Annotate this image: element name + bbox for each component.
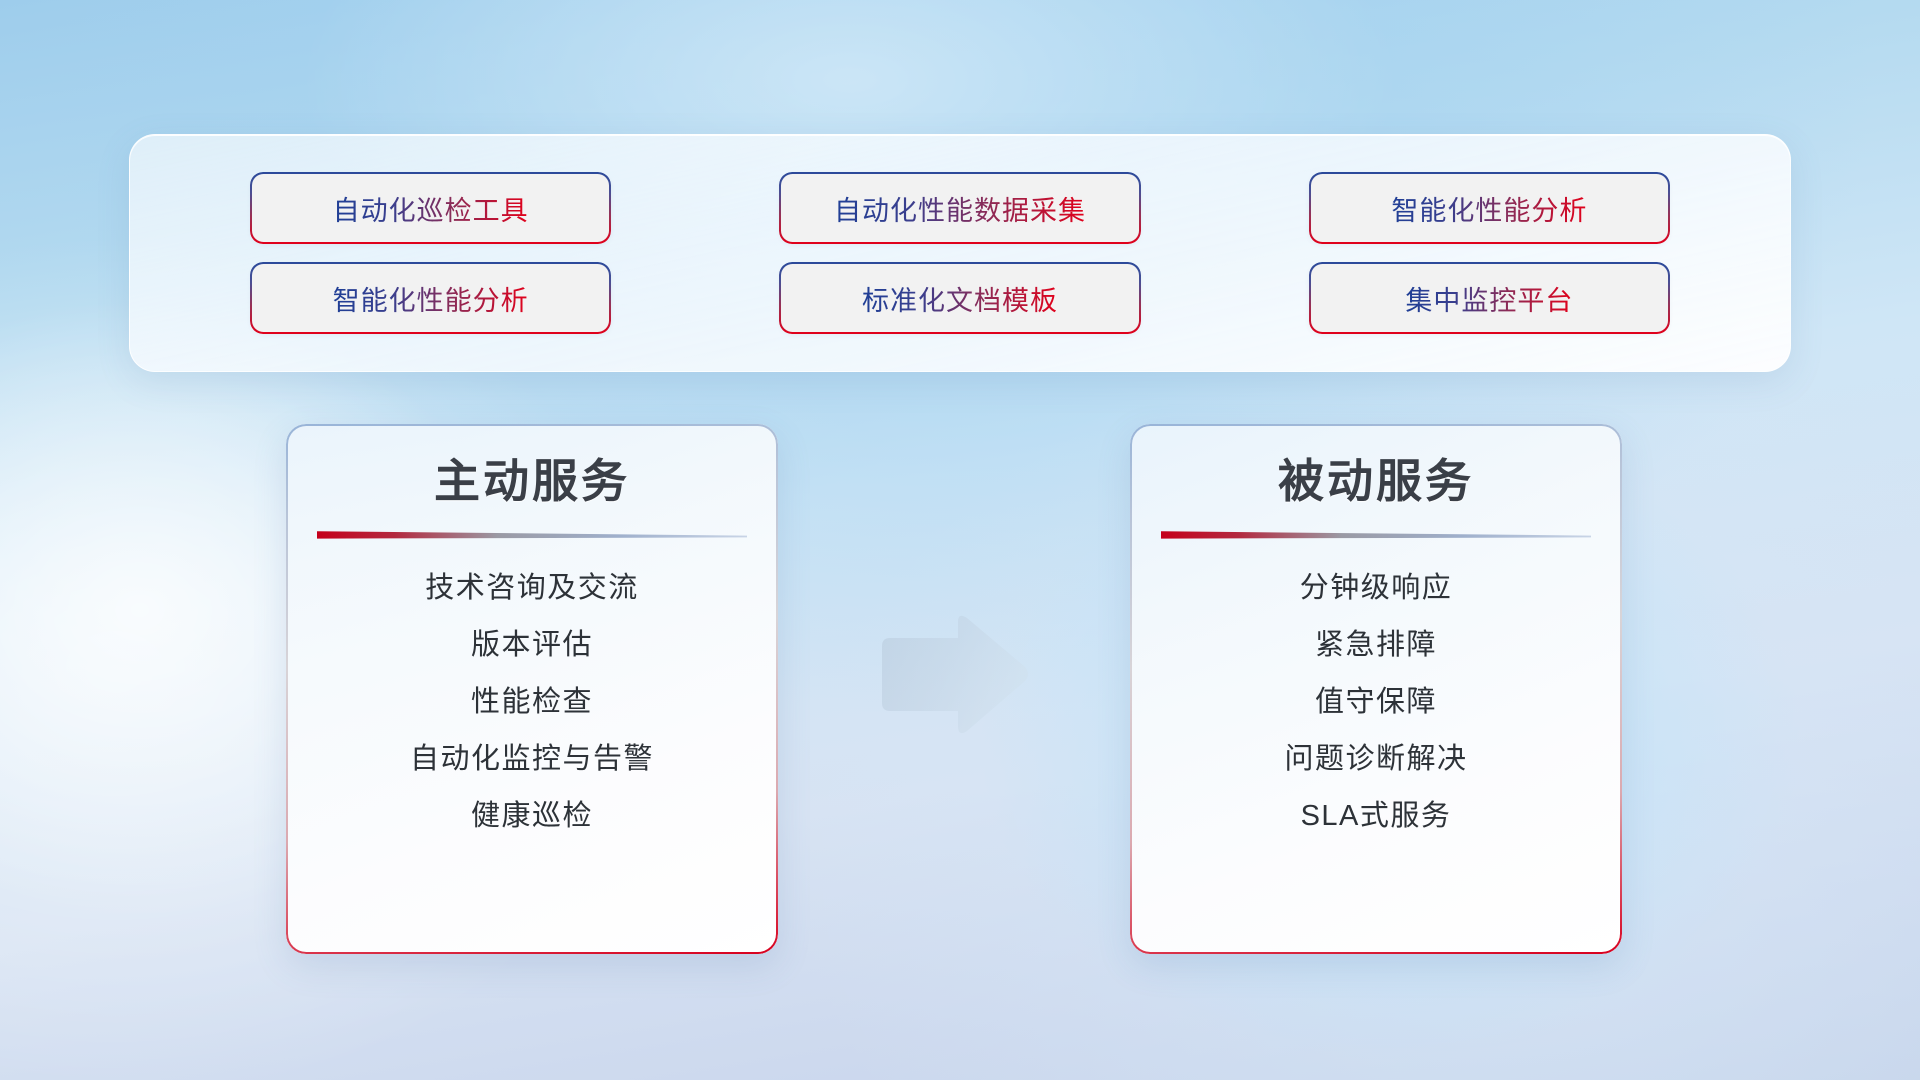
service-card-proactive[interactable]: 主动服务 技术咨询及交流 版本评估 性能检查 自动化监控与告警 健康巡检 xyxy=(286,424,778,954)
service-item: 值守保障 xyxy=(1315,687,1437,719)
capability-pill-label: 自动化巡检工具 xyxy=(333,189,529,228)
service-item: 分钟级响应 xyxy=(1300,573,1453,605)
capability-pill-label: 集中监控平台 xyxy=(1405,279,1573,318)
title-divider xyxy=(1161,530,1591,539)
capability-pill[interactable]: 集中监控平台 xyxy=(1310,264,1668,332)
service-item: 健康巡检 xyxy=(471,801,593,833)
service-item-list: 分钟级响应 紧急排障 值守保障 问题诊断解决 SLA式服务 xyxy=(1160,573,1592,832)
capability-pill[interactable]: 自动化性能数据采集 xyxy=(781,174,1139,242)
service-card-title: 被动服务 xyxy=(1278,458,1474,504)
service-card-title: 主动服务 xyxy=(434,458,630,504)
capability-pill[interactable]: 自动化巡检工具 xyxy=(252,174,610,242)
capability-pill[interactable]: 智能化性能分析 xyxy=(1310,174,1668,242)
title-divider xyxy=(317,530,747,539)
service-card-reactive[interactable]: 被动服务 分钟级响应 紧急排障 值守保障 问题诊断解决 SLA式服务 xyxy=(1130,424,1622,954)
capability-pill[interactable]: 智能化性能分析 xyxy=(252,264,610,332)
service-item-list: 技术咨询及交流 版本评估 性能检查 自动化监控与告警 健康巡检 xyxy=(316,573,748,832)
service-item: 紧急排障 xyxy=(1315,630,1437,662)
capability-pill-label: 智能化性能分析 xyxy=(333,279,529,318)
service-item: SLA式服务 xyxy=(1301,801,1452,833)
service-item: 技术咨询及交流 xyxy=(425,573,639,605)
capability-pill[interactable]: 标准化文档模板 xyxy=(781,264,1139,332)
service-item: 自动化监控与告警 xyxy=(410,744,654,776)
capability-panel: 自动化巡检工具 自动化性能数据采集 智能化性能分析 智能化性能分析 标准化文档模… xyxy=(129,134,1791,372)
capability-pill-label: 标准化文档模板 xyxy=(862,279,1058,318)
flow-arrow-right-icon xyxy=(872,612,1032,738)
service-item: 性能检查 xyxy=(471,687,593,719)
service-item: 问题诊断解决 xyxy=(1284,744,1467,776)
capability-pill-label: 智能化性能分析 xyxy=(1391,189,1587,228)
service-item: 版本评估 xyxy=(471,630,593,662)
capability-pill-label: 自动化性能数据采集 xyxy=(834,189,1086,228)
